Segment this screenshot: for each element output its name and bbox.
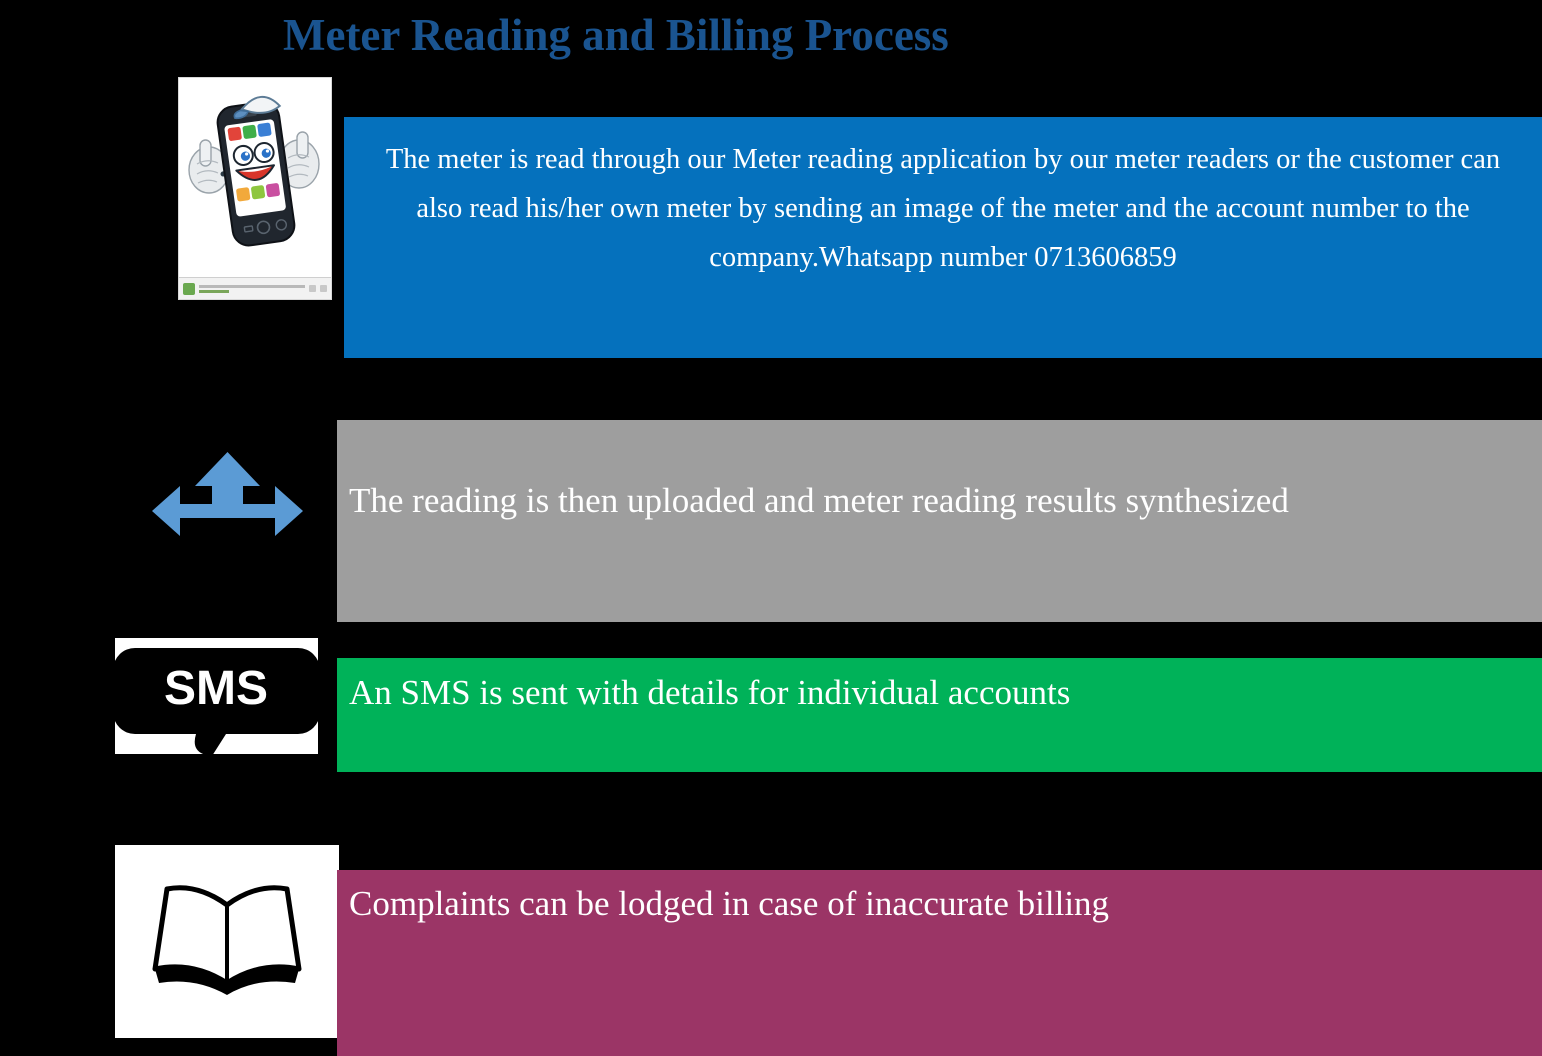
step-text-meter-reading: The meter is read through our Meter read… [386, 144, 1500, 273]
page-title: Meter Reading and Billing Process [283, 10, 1283, 62]
footer-caption-lines [199, 285, 305, 293]
slide-canvas: Meter Reading and Billing Process [0, 0, 1542, 1056]
footer-dot-icon [309, 285, 316, 292]
step-text-sms: An SMS is sent with details for individu… [349, 673, 1070, 712]
footer-dot-icon [320, 285, 327, 292]
phone-mascot-artwork [179, 78, 331, 262]
sms-icon-label: SMS [164, 662, 268, 715]
open-book-icon [115, 845, 339, 1038]
step-panel-sms: An SMS is sent with details for individu… [337, 658, 1542, 772]
step-text-complaints: Complaints can be lodged in case of inac… [349, 884, 1109, 923]
step-text-upload: The reading is then uploaded and meter r… [349, 481, 1289, 520]
step-panel-upload: The reading is then uploaded and meter r… [337, 420, 1542, 622]
step-panel-complaints: Complaints can be lodged in case of inac… [337, 870, 1542, 1056]
footer-line [199, 290, 229, 293]
footer-right-icons [309, 285, 327, 292]
phone-mascot-icon [178, 77, 332, 300]
step-panel-meter-reading: The meter is read through our Meter read… [344, 117, 1542, 358]
footer-line [199, 285, 305, 288]
download-badge-icon [183, 283, 195, 295]
stock-photo-footer [179, 277, 331, 299]
three-way-arrow-icon [150, 450, 305, 560]
sms-speech-bubble-icon: SMS [115, 638, 318, 754]
